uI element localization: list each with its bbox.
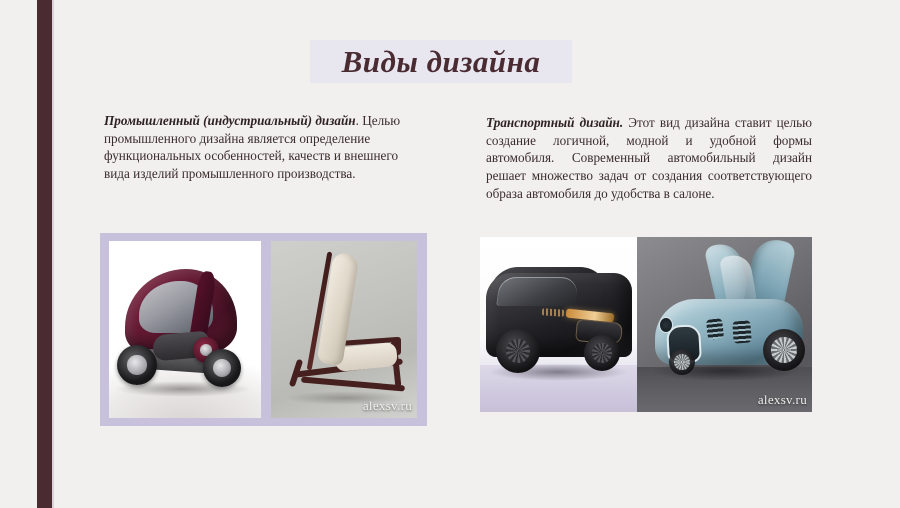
left-accent-bar-highlight <box>52 0 54 508</box>
slide-title-box: Виды дизайна <box>310 40 572 83</box>
sportscar-side-vent-rear <box>732 320 751 343</box>
text-column-industrial: Промышленный (индустриальный) дизайн. Це… <box>104 112 404 183</box>
photo-suv-concept <box>480 237 637 412</box>
industrial-design-image-panel: alexsv.ru <box>100 233 427 426</box>
photo-concept-trike <box>109 241 261 418</box>
trike-rear-wheel <box>203 349 241 387</box>
watermark-alexsv-chair: alexsv.ru <box>363 398 412 414</box>
sportscar-side-vent-front <box>706 318 724 340</box>
sportscar-headlight <box>659 317 673 333</box>
suv-side-glass <box>496 277 579 306</box>
transport-design-image-panel: alexsv.ru <box>480 237 812 412</box>
slide-canvas: Виды дизайна Промышленный (индустриальны… <box>0 0 900 508</box>
chair-rocker-rail-lower <box>301 376 405 391</box>
left-accent-bar <box>37 0 52 508</box>
industrial-lead-in: Промышленный (индустриальный) дизайн <box>104 113 356 128</box>
suv-side-vent <box>542 308 564 317</box>
sportscar-front-wheel <box>763 329 805 371</box>
photo-sports-car-concept: alexsv.ru <box>637 237 812 412</box>
watermark-alexsv-sportscar: alexsv.ru <box>758 392 807 408</box>
page-title: Виды дизайна <box>342 44 541 80</box>
photo-rocking-chair: alexsv.ru <box>271 241 417 418</box>
transport-lead-in: Транспортный дизайн. <box>486 115 623 130</box>
suv-front-wheel <box>496 329 540 373</box>
text-column-transport: Транспортный дизайн. Этот вид дизайна ст… <box>486 114 812 202</box>
sportscar-rear-wheel <box>669 349 695 375</box>
trike-front-wheel <box>117 345 157 385</box>
suv-rear-wheel <box>584 335 620 371</box>
